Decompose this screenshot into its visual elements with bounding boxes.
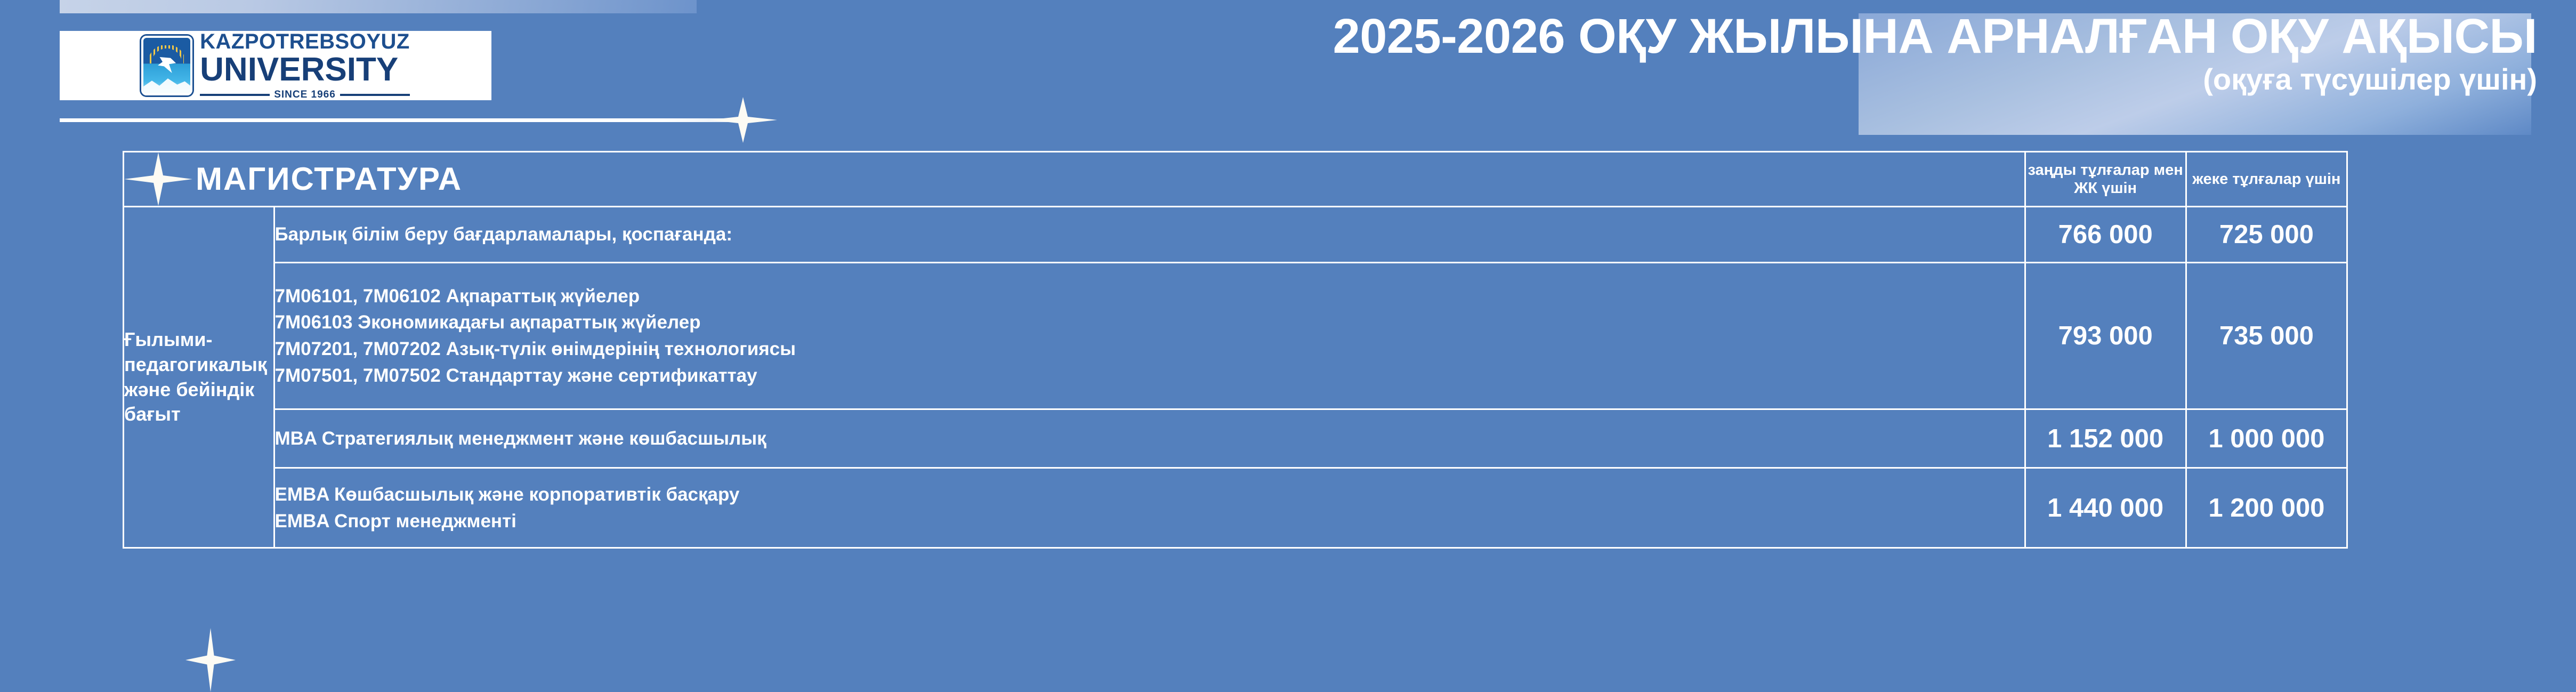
price-legal: 1 440 000 xyxy=(2025,468,2186,548)
price-individual: 1 000 000 xyxy=(2186,409,2347,468)
price-legal: 766 000 xyxy=(2025,207,2186,263)
table-row: 7М06101, 7М06102 Ақпараттық жүйелер 7М06… xyxy=(124,263,2347,409)
section-title: МАГИСТРАТУРА xyxy=(196,163,462,195)
program-line: 7М07201, 7М07202 Азық-түлік өнімдерінің … xyxy=(275,336,2024,363)
price-legal: 1 152 000 xyxy=(2025,409,2186,468)
page-title: 2025-2026 ОҚУ ЖЫЛЫНА АРНАЛҒАН ОҚУ АҚЫСЫ xyxy=(544,12,2537,62)
section-title-cell: МАГИСТРАТУРА xyxy=(124,152,2025,207)
page-title-block: 2025-2026 ОҚУ ЖЫЛЫНА АРНАЛҒАН ОҚУ АҚЫСЫ … xyxy=(544,12,2537,95)
program-line: 7М06101, 7М06102 Ақпараттық жүйелер xyxy=(275,283,2024,310)
program-line: 7М06103 Экономикадағы ақпараттық жүйелер xyxy=(275,309,2024,336)
table-row: MBA Стратегиялық менеджмент және көшбасш… xyxy=(124,409,2347,468)
program-line: EMBA Көшбасшылық және корпоративтік басқ… xyxy=(275,481,2024,508)
price-individual: 725 000 xyxy=(2186,207,2347,263)
tuition-table: МАГИСТРАТУРА заңды тұлғалар мен ЖК үшін … xyxy=(123,151,2348,549)
program-cell: EMBA Көшбасшылық және корпоративтік басқ… xyxy=(274,468,2025,548)
price-individual: 735 000 xyxy=(2186,263,2347,409)
price-legal: 793 000 xyxy=(2025,263,2186,409)
table-row: EMBA Көшбасшылық және корпоративтік басқ… xyxy=(124,468,2347,548)
program-line: EMBA Спорт менеджменті xyxy=(275,508,2024,535)
program-line: MBA Стратегиялық менеджмент және көшбасш… xyxy=(275,425,2024,452)
program-cell: MBA Стратегиялық менеджмент және көшбасш… xyxy=(274,409,2025,468)
logo-since-row: SINCE 1966 xyxy=(200,89,410,101)
logo-rule-left xyxy=(200,94,270,96)
row-group-label: Ғылыми-педагогикалық және бейіндік бағыт xyxy=(124,207,274,548)
logo-since-text: SINCE 1966 xyxy=(274,89,336,101)
logo-line-1: KAZPOTREBSOYUZ xyxy=(200,31,410,52)
column-header-individual: жеке тұлғалар үшін xyxy=(2186,152,2347,207)
sparkle-star-icon xyxy=(709,97,777,143)
table-header-row: МАГИСТРАТУРА заңды тұлғалар мен ЖК үшін … xyxy=(124,152,2347,207)
table-row: Ғылыми-педагогикалық және бейіндік бағыт… xyxy=(124,207,2347,263)
page-subtitle: (оқуға түсушілер үшін) xyxy=(544,64,2537,95)
program-cell: Барлық білім беру бағдарламалары, қоспағ… xyxy=(274,207,2025,263)
university-emblem-icon xyxy=(141,36,192,95)
column-header-legal: заңды тұлғалар мен ЖК үшін xyxy=(2025,152,2186,207)
logo-line-2: UNIVERSITY xyxy=(200,53,410,86)
program-cell: 7М06101, 7М06102 Ақпараттық жүйелер 7М06… xyxy=(274,263,2025,409)
university-logo: KAZPOTREBSOYUZ UNIVERSITY SINCE 1966 xyxy=(60,31,491,100)
price-individual: 1 200 000 xyxy=(2186,468,2347,548)
program-line: Барлық білім беру бағдарламалары, қоспағ… xyxy=(275,221,2024,248)
sparkle-star-icon xyxy=(124,152,192,206)
program-line: 7М07501, 7М07502 Стандарттау және сертиф… xyxy=(275,363,2024,389)
sparkle-star-bottom-icon xyxy=(185,628,236,692)
decor-rule xyxy=(60,118,745,122)
logo-rule-right xyxy=(340,94,410,96)
